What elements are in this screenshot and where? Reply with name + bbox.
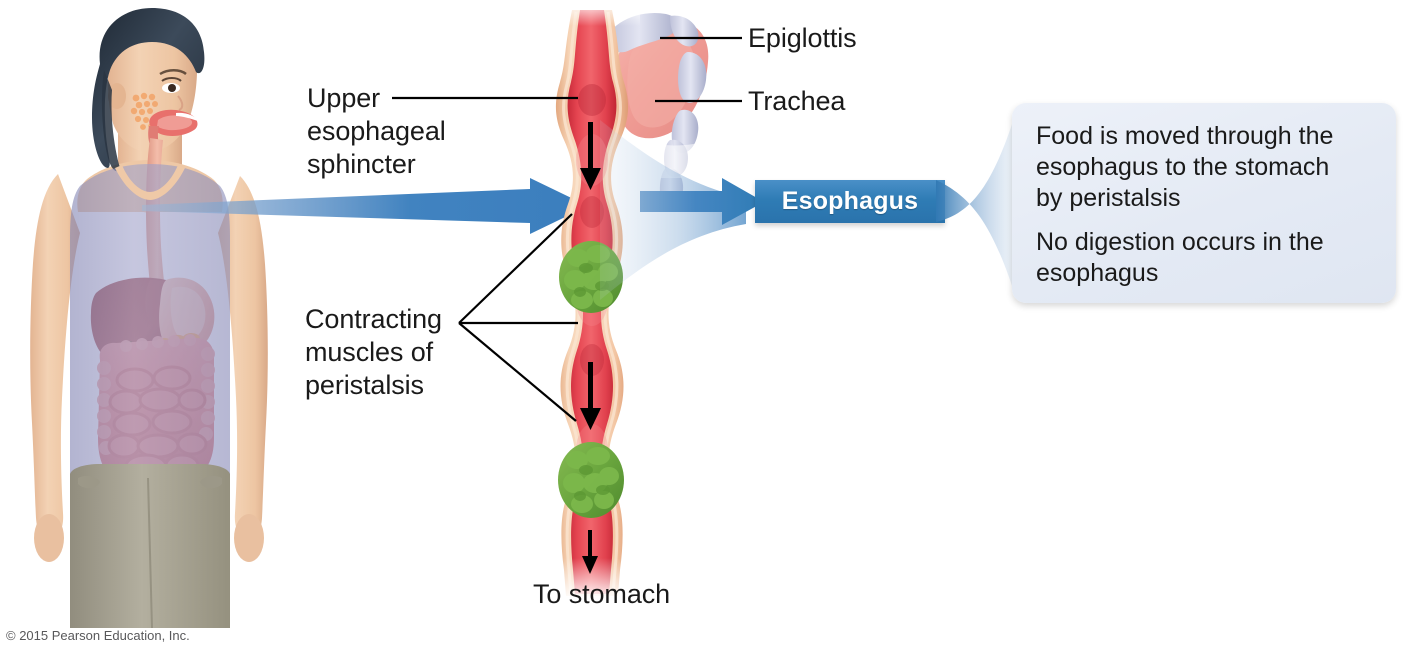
leader-lines [0, 0, 1411, 661]
figure-canvas: Esophagus Food is moved through the esop… [0, 0, 1411, 661]
copyright-notice: © 2015 Pearson Education, Inc. [6, 628, 190, 644]
leader-line-contracting-3 [459, 323, 576, 421]
label-upper-esophageal-sphincter: Upper esophageal sphincter [307, 82, 446, 181]
label-epiglottis: Epiglottis [748, 22, 857, 55]
leader-line-contracting-1 [459, 214, 572, 323]
label-to-stomach: To stomach [533, 578, 670, 611]
label-contracting-muscles-of-peristalsis: Contracting muscles of peristalsis [305, 303, 442, 402]
label-trachea: Trachea [748, 85, 845, 118]
